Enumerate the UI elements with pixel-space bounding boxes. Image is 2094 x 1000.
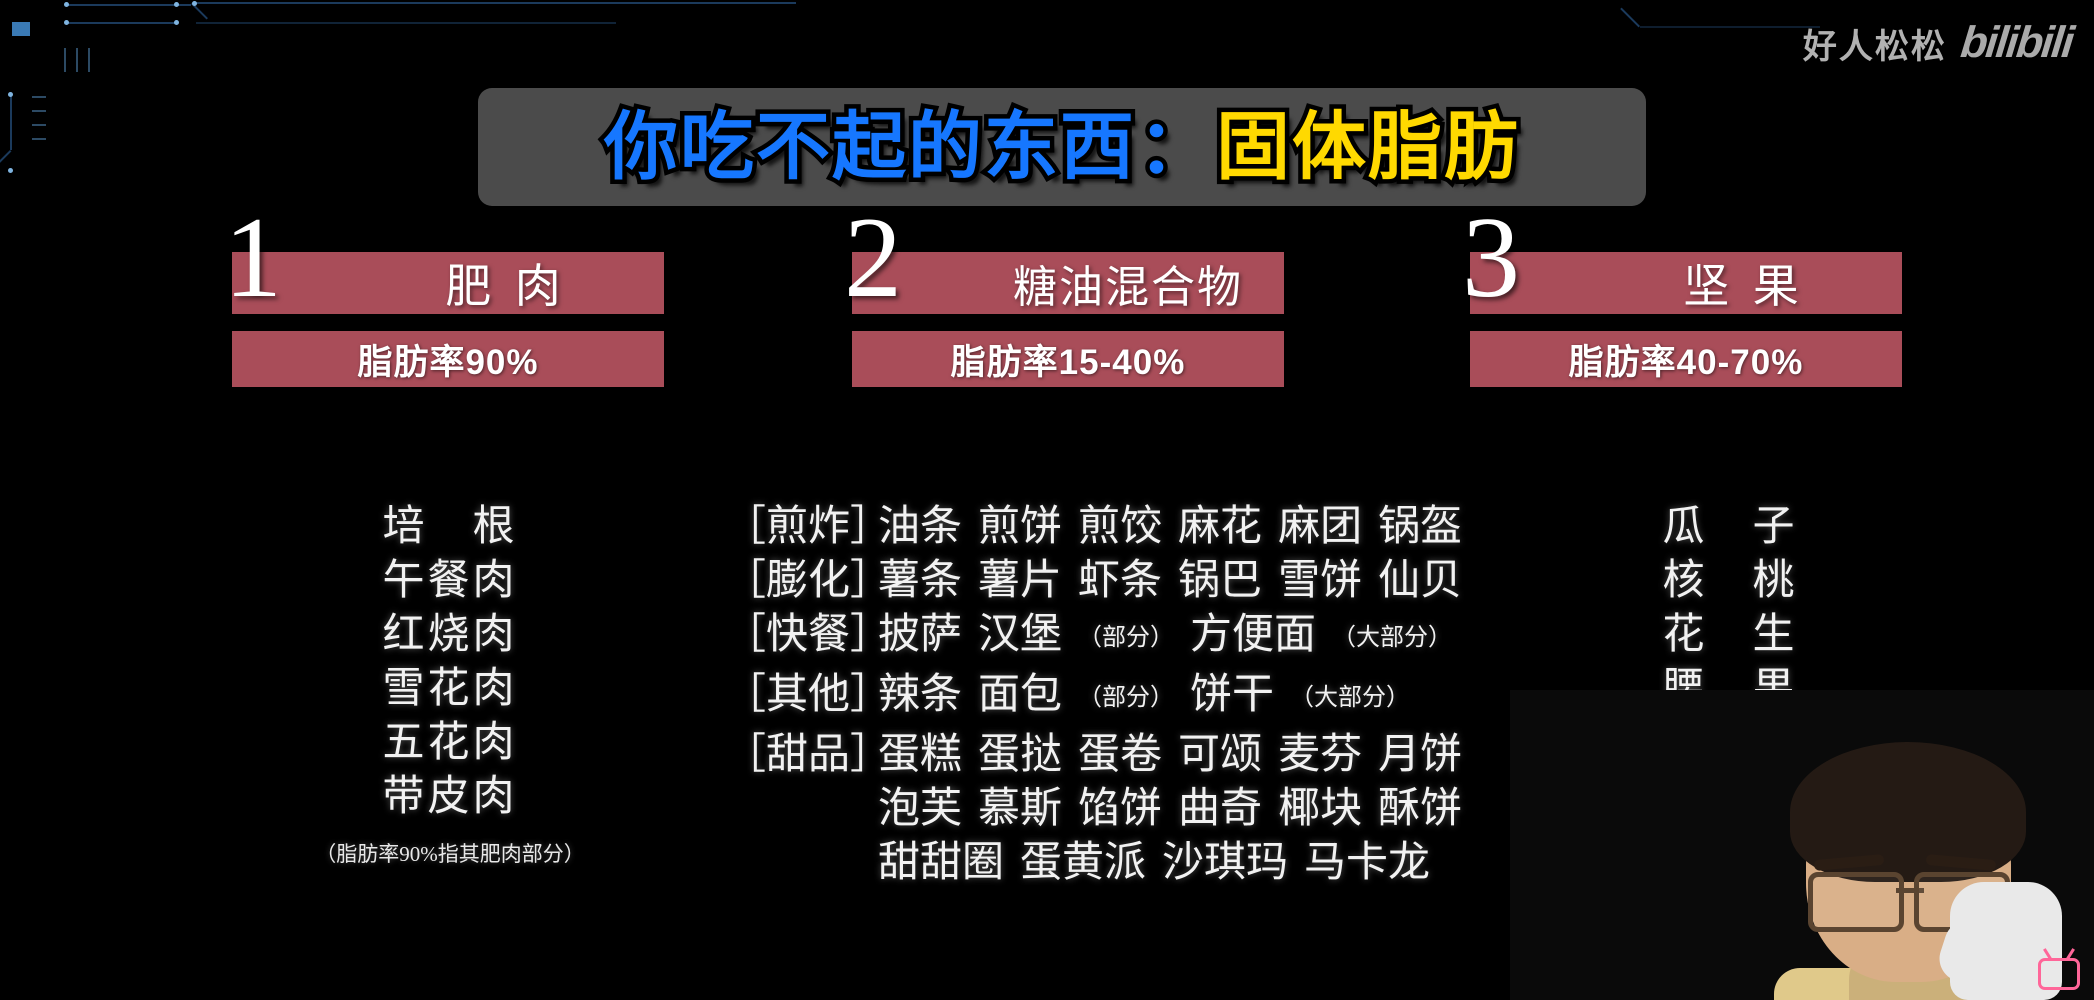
item-word: 方便面	[1190, 608, 1316, 662]
column-2-header: 2 糖油混合物	[852, 252, 1284, 314]
hud-dot-2	[174, 2, 179, 7]
item-word: 马卡龙	[1304, 836, 1430, 890]
list-item: 雪花肉	[300, 662, 600, 716]
item-word: 煎饼	[978, 500, 1062, 554]
list-item: ［其他］辣条面包（部分）饼干（大部分）	[724, 668, 1444, 728]
title-banner: 你吃不起的东西 ： 固体脂肪	[478, 88, 1646, 206]
item-word: 酥饼	[1378, 782, 1462, 836]
item-word: 蛋黄派	[1020, 836, 1146, 890]
item-qualifier: （部分）	[1078, 611, 1174, 665]
hud-diagonal-3	[1620, 8, 1640, 28]
item-category-tag: ［其他］	[724, 668, 878, 722]
item-word: 面包	[978, 668, 1062, 722]
item-word: 泡芙	[878, 782, 962, 836]
item-word: 仙贝	[1378, 554, 1462, 608]
list-item: ［甜品］蛋糕蛋挞蛋卷可颂麦芬月饼	[724, 728, 1444, 782]
column-3-header: 3 坚 果	[1470, 252, 1902, 314]
list-item: ［膨化］薯条薯片虾条锅巴雪饼仙贝	[724, 554, 1444, 608]
title-colon: ：	[1136, 110, 1216, 184]
item-word: 辣条	[878, 668, 962, 722]
item-word: 蛋卷	[1078, 728, 1162, 782]
list-item: 五花肉	[300, 716, 600, 770]
glasses-lens-left	[1808, 872, 1904, 932]
item-qualifier: （部分）	[1078, 671, 1174, 725]
item-word: 薯条	[878, 554, 962, 608]
title-accent-text: 固体脂肪	[1216, 110, 1520, 184]
item-word: 慕斯	[978, 782, 1062, 836]
list-item: ［快餐］披萨汉堡（部分）方便面（大部分）	[724, 608, 1444, 668]
title-main-text: 你吃不起的东西	[604, 110, 1136, 184]
item-word: 麻团	[1278, 500, 1362, 554]
list-item: 午餐肉	[300, 554, 600, 608]
column-3-number: 3	[1462, 200, 1520, 316]
list-item: 瓜 子	[1600, 500, 1860, 554]
item-word: 馅饼	[1078, 782, 1162, 836]
hud-line-top-2	[196, 2, 796, 4]
list-item: ［ ］泡芙慕斯馅饼曲奇椰块酥饼	[724, 782, 1444, 836]
hud-line-top-1	[66, 4, 191, 6]
category-column-1: 1 肥 肉 脂肪率90%	[232, 252, 664, 387]
column-1-fat-rate: 脂肪率90%	[232, 331, 664, 387]
item-word: 虾条	[1078, 554, 1162, 608]
item-word: 椰块	[1278, 782, 1362, 836]
hud-blue-square	[12, 22, 30, 36]
hud-tick-h-4	[32, 138, 46, 140]
item-word: 煎饺	[1078, 500, 1162, 554]
item-category-tag: ［煎炸］	[724, 500, 878, 554]
item-word: 饼干	[1190, 668, 1274, 722]
hud-tick-v-2	[76, 48, 78, 72]
hud-dot-5	[174, 20, 179, 25]
item-word: 蛋挞	[978, 728, 1062, 782]
list-item: 核 桃	[1600, 554, 1860, 608]
column-3-title: 坚 果	[1470, 252, 1960, 314]
hud-dot-3	[192, 1, 197, 6]
hud-diagonal-2	[0, 150, 11, 167]
bilibili-tv-icon	[2038, 958, 2080, 990]
item-word: 汉堡	[978, 608, 1062, 662]
column-1-title: 肥 肉	[232, 252, 722, 314]
column-1-note: （脂肪率90%指其肥肉部分）	[280, 838, 620, 868]
list-item: ［ ］甜甜圈蛋黄派沙琪玛马卡龙	[724, 836, 1444, 890]
item-word: 锅巴	[1178, 554, 1262, 608]
list-item: 红烧肉	[300, 608, 600, 662]
item-word: 锅盔	[1378, 500, 1462, 554]
item-word: 油条	[878, 500, 962, 554]
item-word: 麦芬	[1278, 728, 1362, 782]
hud-tick-h-1	[32, 96, 46, 98]
item-word: 可颂	[1178, 728, 1262, 782]
bilibili-logo: bilibili	[1958, 18, 2074, 68]
item-category-tag: ［甜品］	[724, 728, 878, 782]
item-word: 蛋糕	[878, 728, 962, 782]
item-word: 披萨	[878, 608, 962, 662]
hud-line-top-3	[66, 22, 178, 24]
column-1-header: 1 肥 肉	[232, 252, 664, 314]
hud-dot-1	[64, 2, 69, 7]
column-3-fat-rate: 脂肪率40-70%	[1470, 331, 1902, 387]
item-word: 雪饼	[1278, 554, 1362, 608]
item-word: 月饼	[1378, 728, 1462, 782]
column-2-number: 2	[844, 200, 902, 316]
column-2-item-list: ［煎炸］油条煎饼煎饺麻花麻团锅盔［膨化］薯条薯片虾条锅巴雪饼仙贝［快餐］披萨汉堡…	[724, 500, 1444, 890]
hud-line-right-top	[1640, 26, 1820, 28]
list-item: 培 根	[300, 500, 600, 554]
hud-dot-7	[8, 168, 13, 173]
watermark: 好人松松 bilibili	[1803, 18, 2072, 68]
hud-line-left-vertical	[10, 94, 12, 150]
list-item: 花 生	[1600, 608, 1860, 662]
video-frame: 好人松松 bilibili 你吃不起的东西 ： 固体脂肪 1 肥 肉 脂肪率90…	[0, 0, 2094, 1000]
column-1-item-list: 培 根午餐肉红烧肉雪花肉五花肉带皮肉	[300, 500, 600, 824]
hud-tick-v-3	[88, 48, 90, 72]
column-2-fat-rate: 脂肪率15-40%	[852, 331, 1284, 387]
webcam-overlay-panel	[1510, 690, 2094, 1000]
item-word: 沙琪玛	[1162, 836, 1288, 890]
item-word: 甜甜圈	[878, 836, 1004, 890]
category-column-2: 2 糖油混合物 脂肪率15-40%	[852, 252, 1284, 387]
item-qualifier: （大部分）	[1332, 611, 1452, 665]
hud-dot-4	[64, 20, 69, 25]
item-word: 麻花	[1178, 500, 1262, 554]
hud-tick-h-3	[32, 124, 46, 126]
item-category-tag: ［快餐］	[724, 608, 878, 662]
list-item: ［煎炸］油条煎饼煎饺麻花麻团锅盔	[724, 500, 1444, 554]
hud-line-top-4	[196, 22, 616, 24]
item-word: 曲奇	[1178, 782, 1262, 836]
watermark-channel-name: 好人松松	[1803, 19, 1947, 68]
item-word: 薯片	[978, 554, 1062, 608]
hud-dot-6	[8, 92, 13, 97]
list-item: 带皮肉	[300, 770, 600, 824]
hud-tick-h-2	[32, 110, 46, 112]
column-2-title: 糖油混合物	[852, 252, 1344, 314]
item-qualifier: （大部分）	[1290, 671, 1410, 725]
category-column-3: 3 坚 果 脂肪率40-70%	[1470, 252, 1902, 387]
column-1-number: 1	[224, 200, 282, 316]
hud-tick-v-1	[64, 48, 66, 72]
item-category-tag: ［膨化］	[724, 554, 878, 608]
